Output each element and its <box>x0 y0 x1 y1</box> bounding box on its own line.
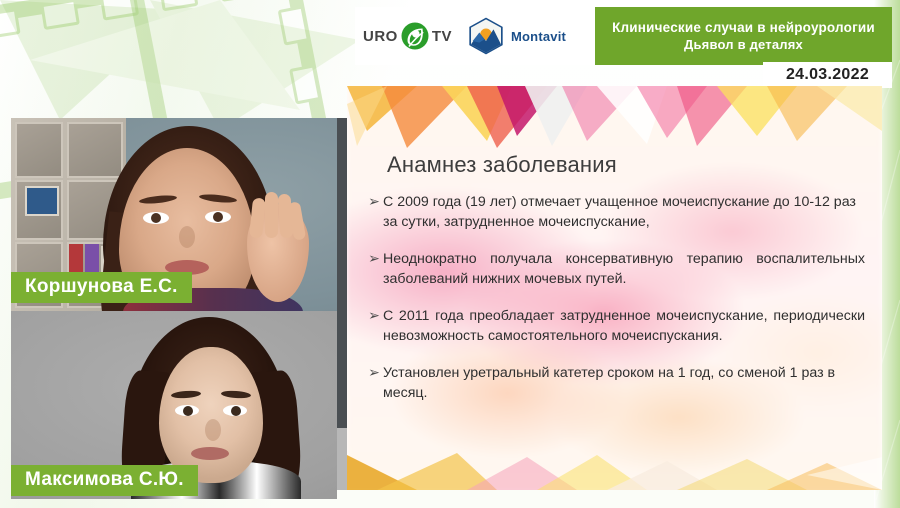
slide-bullet-item: ➢ С 2011 года преобладает затрудненное м… <box>365 306 865 346</box>
slide-bullet-text: С 2011 года преобладает затрудненное моч… <box>383 306 865 346</box>
montavit-logo-text: Montavit <box>511 29 566 44</box>
montavit-hexagon-icon <box>466 16 506 56</box>
presenter-name-tag-2: Максимова С.Ю. <box>11 465 198 496</box>
date-text: 24.03.2022 <box>786 66 869 84</box>
slide-bullet-text: Установлен уретральный катетер сроком на… <box>383 363 865 403</box>
presenter-name-2: Максимова С.Ю. <box>25 469 184 490</box>
webinar-screen: URO TV Montavit <box>0 0 900 508</box>
divider-strip-light <box>337 428 347 490</box>
slide-bullet-item: ➢ С 2009 года (19 лет) отмечает учащенно… <box>365 192 865 232</box>
presenter2-face <box>159 347 263 483</box>
slide-bottom-geometry <box>347 435 882 490</box>
webinar-title-line2: Дьявол в деталях <box>684 36 803 53</box>
webinar-title-banner: Клинические случаи в нейроурологии Дьяво… <box>595 7 892 65</box>
slide-bullet-text: С 2009 года (19 лет) отмечает учащенное … <box>383 192 865 232</box>
date-badge: 24.03.2022 <box>763 62 892 88</box>
slide-title: Анамнез заболевания <box>387 152 617 178</box>
slide-bullet-text: Неоднократно получала консервативную тер… <box>383 249 865 289</box>
slide-bullet-item: ➢ Неоднократно получала консервативную т… <box>365 249 865 289</box>
webinar-title-line1: Клинические случаи в нейроурологии <box>612 19 875 36</box>
logo-group: URO TV Montavit <box>355 7 566 65</box>
urotv-leaf-icon <box>400 21 430 51</box>
header-banner: URO TV Montavit <box>355 7 892 65</box>
video-tile-maksimova[interactable]: Максимова С.Ю. <box>11 311 337 499</box>
urotv-logo-text-right: TV <box>432 28 452 45</box>
presentation-slide: Анамнез заболевания ➢ С 2009 года (19 ле… <box>347 86 882 490</box>
triangle-wash-decoration <box>0 0 360 130</box>
video-tile-korshunova[interactable]: Коршунова Е.С. <box>11 118 337 311</box>
divider-strip-dark <box>337 118 347 428</box>
slide-bullet-list: ➢ С 2009 года (19 лет) отмечает учащенно… <box>365 192 865 420</box>
montavit-logo: Montavit <box>466 16 566 56</box>
urotv-logo: URO TV <box>363 21 452 51</box>
urotv-logo-text-left: URO <box>363 28 398 45</box>
bullet-arrow-icon: ➢ <box>365 306 383 326</box>
bullet-arrow-icon: ➢ <box>365 192 383 212</box>
bullet-arrow-icon: ➢ <box>365 363 383 383</box>
slide-top-geometry <box>347 86 882 148</box>
slide-bullet-item: ➢ Установлен уретральный катетер сроком … <box>365 363 865 403</box>
presenter-name-tag-1: Коршунова Е.С. <box>11 272 192 303</box>
bullet-arrow-icon: ➢ <box>365 249 383 269</box>
presenter-name-1: Коршунова Е.С. <box>25 276 178 297</box>
